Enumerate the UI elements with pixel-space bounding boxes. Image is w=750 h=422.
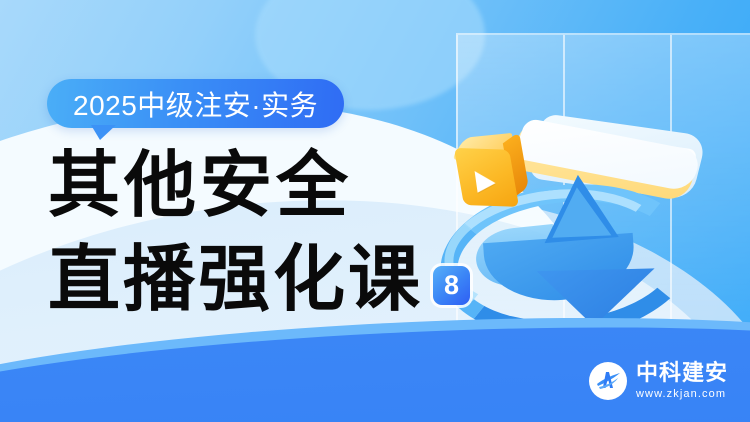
course-poster: 2025中级注安·实务 其他安全 直播强化课 8 中科建安 www.zkjan.… (0, 0, 750, 422)
episode-number-badge: 8 (433, 266, 470, 305)
title-line-2: 直播强化课 (48, 244, 423, 316)
title-line-2-wrapper: 直播强化课 8 (0, 244, 470, 316)
brand-text-block: 中科建安 www.zkjan.com (636, 362, 728, 400)
brand-name: 中科建安 (636, 362, 728, 384)
tag-tail-shape (91, 125, 116, 140)
course-category-tag: 2025中级注安·实务 (47, 79, 344, 128)
brand-logo: 中科建安 www.zkjan.com (589, 362, 728, 400)
title-line-1-wrapper: 其他安全 (0, 150, 470, 222)
course-category-label: 2025中级注安·实务 (73, 84, 318, 124)
brand-url: www.zkjan.com (636, 389, 728, 400)
play-triangle-icon (475, 171, 498, 194)
title-line-1: 其他安全 (48, 146, 352, 226)
compass-swoosh-icon (593, 366, 623, 396)
brand-mark-circle (589, 362, 627, 400)
title-block: 其他安全 直播强化课 8 (0, 150, 470, 316)
